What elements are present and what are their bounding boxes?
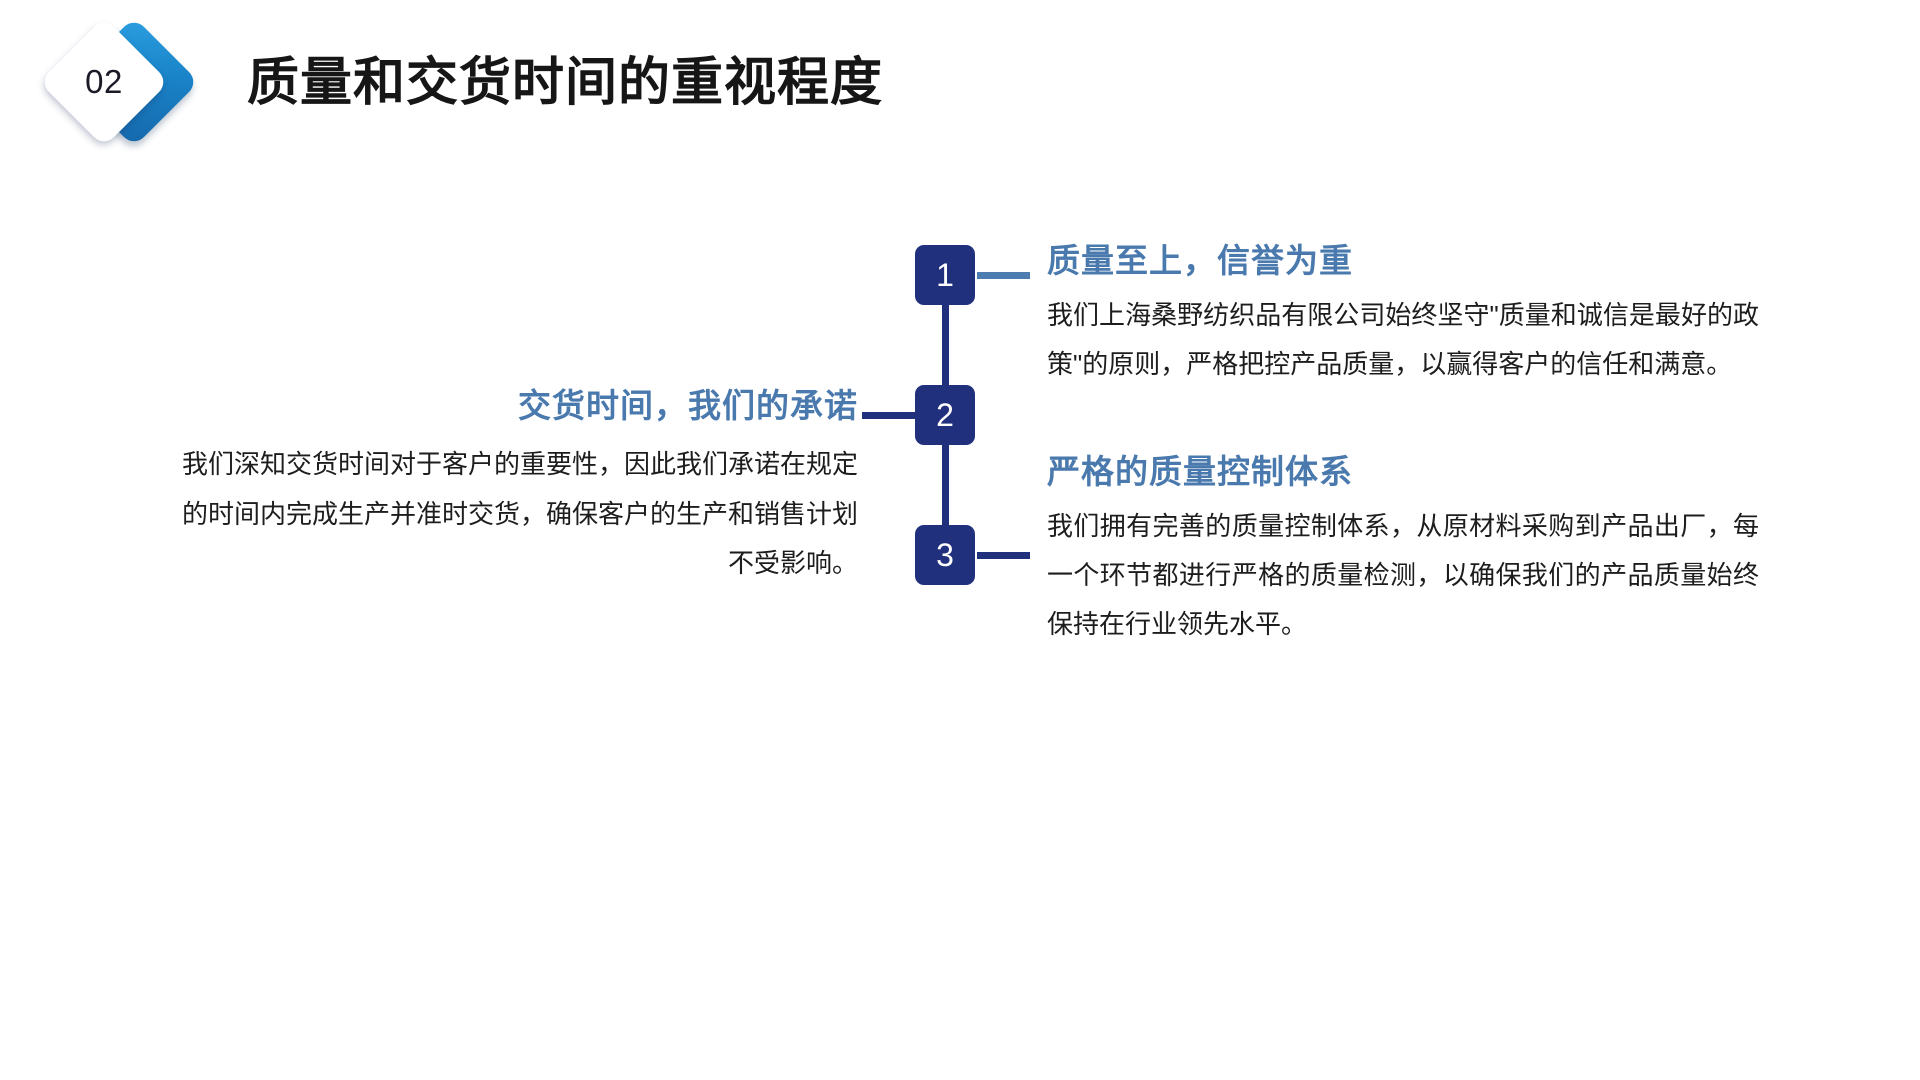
connector-line-node-2: [862, 412, 916, 419]
block-heading-quality-first: 质量至上，信誉为重: [1047, 240, 1759, 281]
left-content-column: 交货时间，我们的承诺 我们深知交货时间对于客户的重要性，因此我们承诺在规定的时间…: [178, 385, 858, 588]
slide-header: 02 质量和交货时间的重视程度: [0, 0, 1920, 210]
connector-line-node-1: [977, 272, 1030, 279]
block-heading-delivery-promise: 交货时间，我们的承诺: [178, 385, 858, 426]
section-number-badge: 02: [52, 22, 192, 142]
block-heading-quality-control: 严格的质量控制体系: [1047, 451, 1759, 492]
timeline-node-3[interactable]: 3: [915, 525, 975, 585]
timeline-track: 1 2 3: [915, 245, 977, 585]
content-block-quality-control: 严格的质量控制体系 我们拥有完善的质量控制体系，从原材料采购到产品出厂，每一个环…: [1047, 451, 1759, 649]
badge-number-label: 02: [58, 36, 150, 128]
block-body-quality-control: 我们拥有完善的质量控制体系，从原材料采购到产品出厂，每一个环节都进行严格的质量检…: [1047, 502, 1759, 649]
timeline-node-2[interactable]: 2: [915, 385, 975, 445]
connector-line-node-3: [977, 552, 1030, 559]
content-block-quality-first: 质量至上，信誉为重 我们上海桑野纺织品有限公司始终坚守"质量和诚信是最好的政策"…: [1047, 240, 1759, 389]
block-body-quality-first: 我们上海桑野纺织品有限公司始终坚守"质量和诚信是最好的政策"的原则，严格把控产品…: [1047, 291, 1759, 389]
block-body-delivery-promise: 我们深知交货时间对于客户的重要性，因此我们承诺在规定的时间内完成生产并准时交货，…: [178, 440, 858, 588]
right-content-column: 质量至上，信誉为重 我们上海桑野纺织品有限公司始终坚守"质量和诚信是最好的政策"…: [1047, 240, 1759, 649]
timeline-node-1[interactable]: 1: [915, 245, 975, 305]
page-title: 质量和交货时间的重视程度: [247, 40, 883, 115]
